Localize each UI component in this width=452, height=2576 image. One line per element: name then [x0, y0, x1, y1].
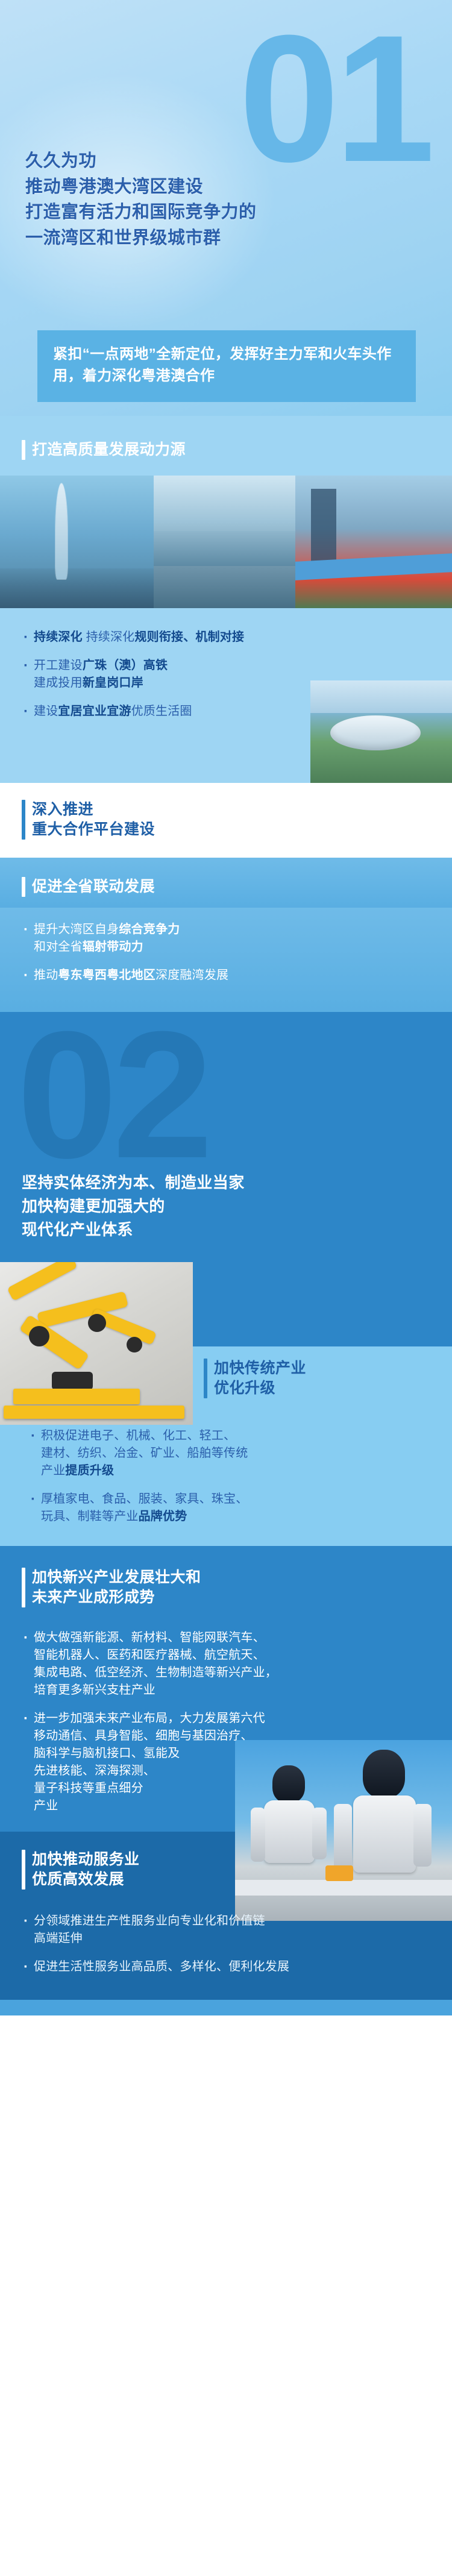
- bullet-text: 建设宜居宜业宜游优质生活圈: [34, 705, 192, 718]
- section-01-title-line-1: 久久为功: [25, 148, 257, 174]
- section-01-header: 01 久久为功 推动粤港澳大湾区建设 打造富有活力和国际竞争力的 一流湾区和世界…: [0, 0, 452, 416]
- infographic-page: 01 久久为功 推动粤港澳大湾区建设 打造富有活力和国际竞争力的 一流湾区和世界…: [0, 0, 452, 2576]
- list-item: 积极促进电子、机械、化工、轻工、建材、纺织、冶金、矿业、船舶等传统产业提质升级: [29, 1427, 434, 1480]
- list-item: 推动粤东粤西粤北地区深度融湾发展: [22, 967, 430, 984]
- bullet-text: 持续深化规则衔接、机制对接: [86, 630, 245, 644]
- list-item: 促进生活性服务业高品质、多样化、便利化发展: [22, 1958, 434, 1976]
- bullet-text: 厚植家电、食品、服装、家具、珠宝、玩具、制鞋等产业品牌优势: [41, 1492, 248, 1523]
- accent-bar-icon: [22, 800, 25, 840]
- block-traditional-industry: 加快传统产业 优化升级: [0, 1262, 452, 1425]
- list-item: 建设宜居宜业宜游优质生活圈: [22, 703, 323, 720]
- list-item: 做大做强新能源、新材料、智能网联汽车、智能机器人、医药和医疗器械、航空航天、集成…: [22, 1629, 430, 1699]
- block-service-industry-body: 分领域推进生产性服务业向专业化和价值链高端延伸 促进生活性服务业高品质、多样化、…: [0, 1900, 452, 2000]
- block-heading-province-linkage: 促进全省联动发展: [32, 877, 155, 897]
- bullet-text: 分领域推进生产性服务业向专业化和价值链高端延伸: [34, 1914, 265, 1945]
- bullet-text: 进一步加强未来产业布局，大力发展第六代移动通信、具身智能、细胞与基因治疗、脑科学…: [34, 1712, 265, 1812]
- photo-strip-greater-bay-area: [0, 476, 452, 608]
- spacer: [193, 1262, 452, 1346]
- list-item: 分领域推进生产性服务业向专业化和价值链高端延伸: [22, 1912, 434, 1947]
- block-heading-traditional-industry: 加快传统产业 优化升级: [214, 1359, 306, 1398]
- bullet-text: 推动粤东粤西粤北地区深度融湾发展: [34, 969, 228, 982]
- block-quality-growth-header: 打造高质量发展动力源: [0, 416, 452, 476]
- robot-arm: [312, 1808, 327, 1859]
- conveyor-belt: [235, 1880, 452, 1896]
- photo-shenzhen-skyline: [295, 476, 452, 608]
- photo-canton-tower: [0, 476, 154, 608]
- block-province-linkage-body: 提升大湾区自身综合竞争力 和对全省辐射带动力 推动粤东粤西粤北地区深度融湾发展: [0, 908, 452, 1012]
- bullet-list-emerging-industry: 做大做强新能源、新材料、智能网联汽车、智能机器人、医药和医疗器械、航空航天、集成…: [22, 1629, 430, 1815]
- section-02-title-line-3: 现代化产业体系: [22, 1218, 430, 1242]
- block-emerging-industry-body: 做大做强新能源、新材料、智能网联汽车、智能机器人、医药和医疗器械、航空航天、集成…: [0, 1619, 452, 1832]
- robot-gripper-tool: [325, 1865, 353, 1881]
- list-item: 厚植家电、食品、服装、家具、珠宝、玩具、制鞋等产业品牌优势: [29, 1491, 434, 1525]
- block-heading-emerging-industry: 加快新兴产业发展壮大和 未来产业成形成势: [32, 1568, 201, 1607]
- traditional-industry-heading-panel: 加快传统产业 优化升级: [193, 1346, 452, 1425]
- bullet-list-traditional-industry: 积极促进电子、机械、化工、轻工、建材、纺织、冶金、矿业、船舶等传统产业提质升级 …: [29, 1427, 434, 1525]
- block-heading-quality-growth: 打造高质量发展动力源: [32, 440, 186, 460]
- block-cooperation-platform-header: 深入推进 重大合作平台建设: [0, 783, 452, 858]
- bullet-text: 积极促进电子、机械、化工、轻工、建材、纺织、冶金、矿业、船舶等传统产业提质升级: [41, 1429, 248, 1477]
- section-02-number: 02: [17, 1020, 209, 1169]
- bullet-list-quality-growth: 持续深化 持续深化规则衔接、机制对接 开工建设广珠（澳）高铁 建成投用新皇岗口岸…: [22, 629, 323, 720]
- section-01-quote-text: 紧扣“一点两地”全新定位，发挥好主力军和火车头作用，着力深化粤港澳合作: [53, 346, 392, 384]
- section-01-title-line-2: 推动粤港澳大湾区建设: [25, 174, 257, 200]
- block-heading-service-industry: 加快推动服务业 优质高效发展: [32, 1850, 140, 1890]
- list-item: 进一步加强未来产业布局，大力发展第六代移动通信、具身智能、细胞与基因治疗、脑科学…: [22, 1710, 305, 1815]
- bullet-text: 提升大湾区自身综合竞争力 和对全省辐射带动力: [34, 923, 180, 953]
- robot-joint-icon: [29, 1326, 49, 1346]
- block-heading-cooperation-platform: 深入推进 重大合作平台建设: [32, 800, 155, 840]
- footer-band: [0, 2000, 452, 2015]
- robot-arm-segment: [7, 1262, 77, 1301]
- list-item: 提升大湾区自身综合竞争力 和对全省辐射带动力: [22, 921, 430, 956]
- accent-bar-icon: [22, 440, 25, 460]
- accent-bar-icon: [22, 1850, 25, 1890]
- robot-base-mount: [52, 1372, 93, 1390]
- robot-joint-icon: [88, 1314, 106, 1332]
- bullet-text: 做大做强新能源、新材料、智能网联汽车、智能机器人、医药和医疗器械、航空航天、集成…: [34, 1631, 277, 1697]
- bullet-text: 开工建设广珠（澳）高铁 建成投用新皇岗口岸: [34, 659, 168, 690]
- list-item: 持续深化 持续深化规则衔接、机制对接: [22, 629, 323, 646]
- section-02-header: 02 坚持实体经济为本、制造业当家 加快构建更加强大的 现代化产业体系: [0, 1012, 452, 1262]
- section-02-title: 坚持实体经济为本、制造业当家 加快构建更加强大的 现代化产业体系: [22, 1171, 430, 1242]
- block-emerging-industry-header: 加快新兴产业发展壮大和 未来产业成形成势: [0, 1546, 452, 1619]
- robot-arm: [251, 1808, 265, 1862]
- section-02-title-line-1: 坚持实体经济为本、制造业当家: [22, 1171, 430, 1195]
- list-item: 开工建设广珠（澳）高铁 建成投用新皇岗口岸: [22, 657, 323, 692]
- section-01-number: 01: [239, 24, 430, 172]
- block-province-linkage-header: 促进全省联动发展: [0, 858, 452, 908]
- robot-floor-rail: [4, 1406, 184, 1419]
- bullet-list-service-industry: 分领域推进生产性服务业向专业化和价值链高端延伸 促进生活性服务业高品质、多样化、…: [22, 1912, 434, 1976]
- traditional-industry-heading-col: 加快传统产业 优化升级: [193, 1262, 452, 1425]
- robot-pedestal: [13, 1389, 140, 1404]
- robot-joint-icon: [127, 1337, 142, 1352]
- section-01-quote-box: 紧扣“一点两地”全新定位，发挥好主力军和火车头作用，着力深化粤港澳合作: [37, 330, 416, 402]
- bullet-list-province-linkage: 提升大湾区自身综合竞争力 和对全省辐射带动力 推动粤东粤西粤北地区深度融湾发展: [22, 921, 430, 984]
- bullet-text: 促进生活性服务业高品质、多样化、便利化发展: [34, 1960, 289, 1973]
- section-01-title-line-3: 打造富有活力和国际竞争力的: [25, 199, 257, 225]
- photo-stadium: [310, 680, 452, 783]
- accent-bar-icon: [22, 1568, 25, 1607]
- section-01-title: 久久为功 推动粤港澳大湾区建设 打造富有活力和国际竞争力的 一流湾区和世界级城市…: [25, 148, 257, 251]
- photo-industrial-robot-arms: [0, 1262, 193, 1425]
- block-traditional-industry-body: 积极促进电子、机械、化工、轻工、建材、纺织、冶金、矿业、船舶等传统产业提质升级 …: [0, 1425, 452, 1546]
- accent-bar-icon: [22, 877, 25, 897]
- accent-bar-icon: [204, 1359, 207, 1398]
- photo-pearl-river: [154, 476, 295, 608]
- block-quality-growth-body: 持续深化 持续深化规则衔接、机制对接 开工建设广珠（澳）高铁 建成投用新皇岗口岸…: [0, 608, 452, 783]
- section-02-title-line-2: 加快构建更加强大的: [22, 1195, 430, 1218]
- section-01-title-line-4: 一流湾区和世界级城市群: [25, 225, 257, 251]
